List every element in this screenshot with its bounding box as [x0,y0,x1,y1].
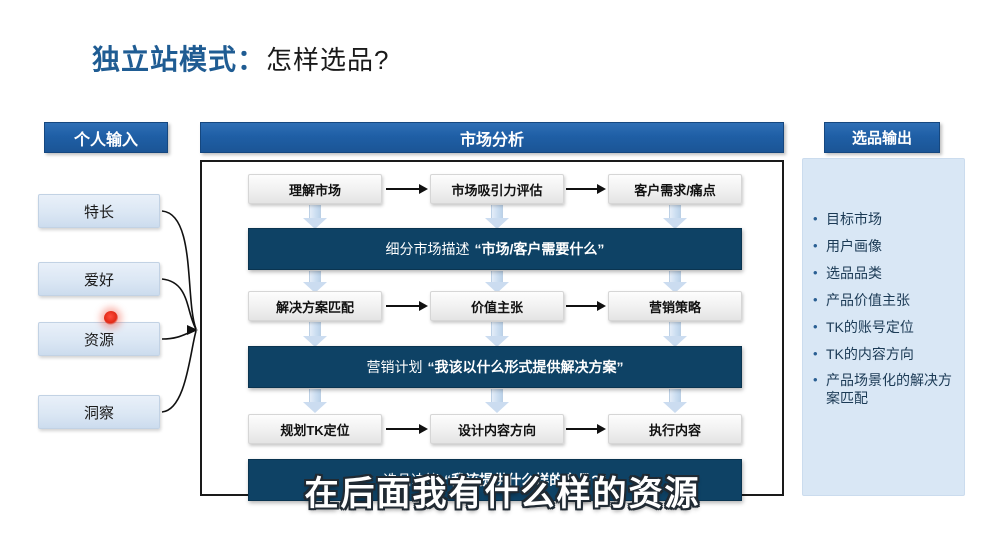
page-title-rest: 怎样选品? [266,45,389,75]
output-item-3: • 产品价值主张 [813,292,956,310]
page-title-strong: 独立站模式： [92,44,266,75]
output-item-1: • 用户画像 [813,238,956,256]
down-arrow-b1c1 [303,271,327,293]
slide-canvas: 独立站模式：怎样选品? 个人输入 市场分析 选品输出 特长 爱好 资源 洞察 [0,0,1005,556]
connector-curve-2 [162,279,196,329]
bullet-icon: • [813,319,826,336]
output-item-label: 产品价值主张 [826,292,956,310]
down-arrow-r2c2 [485,322,509,347]
input-box-resource[interactable]: 资源 [38,322,160,356]
connector-curve-1 [162,211,196,329]
output-item-label: TK的内容方向 [826,346,956,364]
step-value-proposition[interactable]: 价值主张 [430,291,564,321]
bar-marketing-plan: 营销计划“我该以什么形式提供解决方案” [248,346,742,388]
output-item-label: TK的账号定位 [826,319,956,337]
output-item-5: • TK的内容方向 [813,346,956,364]
column-header-personal-input: 个人输入 [44,122,168,153]
connector-curve-3 [162,330,196,339]
output-item-4: • TK的账号定位 [813,319,956,337]
down-arrow-b2c2 [485,389,509,413]
input-box-insight[interactable]: 洞察 [38,395,160,429]
step-design-content-direction[interactable]: 设计内容方向 [430,414,564,444]
arrow-r1-1to2 [386,184,428,194]
down-arrow-r1c2 [485,205,509,229]
bullet-icon: • [813,346,826,363]
output-item-label: 产品场景化的解决方案匹配 [826,372,956,408]
arrow-r2-2to3 [566,301,606,311]
output-item-label: 目标市场 [826,211,956,229]
step-customer-needs[interactable]: 客户需求/痛点 [608,174,742,204]
down-arrow-b1c2 [485,271,509,293]
bullet-icon: • [813,238,826,255]
bar-segment-description-quote: “市场/客户需要什么” [475,239,605,259]
output-item-0: • 目标市场 [813,211,956,229]
bar-segment-description: 细分市场描述“市场/客户需要什么” [248,228,742,270]
arrow-r3-1to2 [386,424,428,434]
bar-marketing-plan-quote: “我该以什么形式提供解决方案” [428,357,624,377]
bullet-icon: • [813,292,826,309]
column-header-selection-output: 选品输出 [824,122,940,153]
down-arrow-b2c3 [663,389,687,413]
down-arrow-r1c3 [663,205,687,229]
bullet-icon: • [813,265,826,282]
output-item-label: 选品品类 [826,265,956,283]
connector-curve-4 [162,331,196,412]
output-item-6: • 产品场景化的解决方案匹配 [813,372,956,408]
step-understand-market[interactable]: 理解市场 [248,174,382,204]
subtitle-overlay: 在后面我有什么样的资源 [0,466,1005,515]
cursor-pointer-dot [104,311,118,325]
input-box-hobby[interactable]: 爱好 [38,262,160,296]
column-header-market-analysis: 市场分析 [200,122,784,153]
output-item-2: • 选品品类 [813,265,956,283]
arrow-r1-2to3 [566,184,606,194]
output-panel: • 目标市场 • 用户画像 • 选品品类 • 产品价值主张 • TK的账号定位 … [802,158,965,496]
arrow-r3-2to3 [566,424,606,434]
down-arrow-b2c1 [303,389,327,413]
connector-arrowhead [187,325,198,335]
input-box-specialty[interactable]: 特长 [38,194,160,228]
page-title: 独立站模式：怎样选品? [92,38,389,78]
bar-marketing-plan-plain: 营销计划 [367,357,423,377]
down-arrow-b1c3 [663,271,687,293]
bullet-icon: • [813,372,826,389]
down-arrow-r2c1 [303,322,327,347]
step-plan-tk-positioning[interactable]: 规划TK定位 [248,414,382,444]
down-arrow-r1c1 [303,205,327,229]
bar-segment-description-plain: 细分市场描述 [386,239,470,259]
bullet-icon: • [813,211,826,228]
step-solution-match[interactable]: 解决方案匹配 [248,291,382,321]
step-marketing-strategy[interactable]: 营销策略 [608,291,742,321]
arrow-r2-1to2 [386,301,428,311]
step-market-attractiveness[interactable]: 市场吸引力评估 [430,174,564,204]
output-item-label: 用户画像 [826,238,956,256]
down-arrow-r2c3 [663,322,687,347]
step-execute-content[interactable]: 执行内容 [608,414,742,444]
